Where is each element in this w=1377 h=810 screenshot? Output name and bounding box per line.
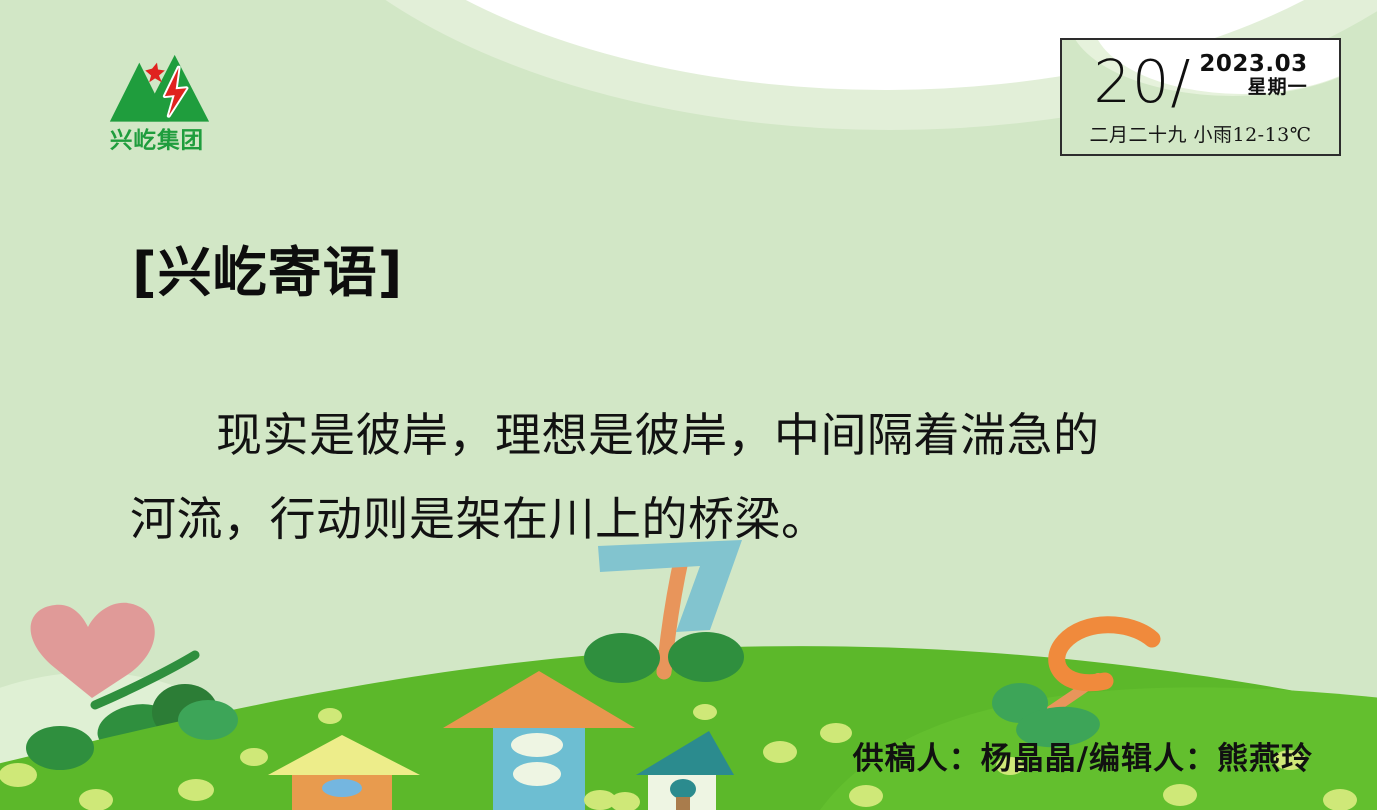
date-card: 20/ 2023.03 星期一 二月二十九 小雨12-13℃	[1060, 38, 1341, 156]
date-year-month: 2023.03	[1199, 52, 1307, 76]
mountain-icon	[110, 55, 209, 122]
date-day-number: 20/	[1093, 52, 1191, 111]
date-lunar-weather: 二月二十九 小雨12-13℃	[1062, 120, 1339, 147]
seven-tree-bush-right	[668, 632, 744, 682]
poster-canvas: 兴屹集团 20/ 2023.03 星期一 二月二十九 小雨12-13℃ [兴屹寄…	[0, 0, 1377, 810]
blue-house-window-upper	[511, 733, 563, 757]
teal-house-door	[676, 797, 690, 810]
star-icon	[145, 63, 165, 83]
blue-house-window-lower	[513, 762, 561, 786]
logo-company-name: 兴屹集团	[110, 127, 204, 154]
seven-tree-bush-left	[584, 633, 660, 683]
yellow-house-window	[322, 779, 362, 797]
hill-bush-left	[26, 726, 94, 770]
credit-line: 供稿人：杨晶晶/编辑人：熊燕玲	[853, 733, 1313, 778]
quote-line-1: 现实是彼岸，理想是彼岸，中间隔着湍急的	[130, 393, 1250, 477]
quote-line-2: 河流，行动则是架在川上的桥梁。	[130, 477, 1250, 561]
date-slash: /	[1170, 47, 1191, 116]
teal-house-window	[670, 779, 696, 799]
hill-bush-mid	[178, 700, 238, 740]
quote-body: 现实是彼岸，理想是彼岸，中间隔着湍急的 河流，行动则是架在川上的桥梁。	[130, 393, 1250, 561]
date-weekday: 星期一	[1199, 76, 1307, 100]
page-title: [兴屹寄语]	[132, 228, 403, 307]
blue-seven-tree	[584, 540, 744, 683]
xingyi-group-logo: 兴屹集团	[98, 45, 216, 157]
